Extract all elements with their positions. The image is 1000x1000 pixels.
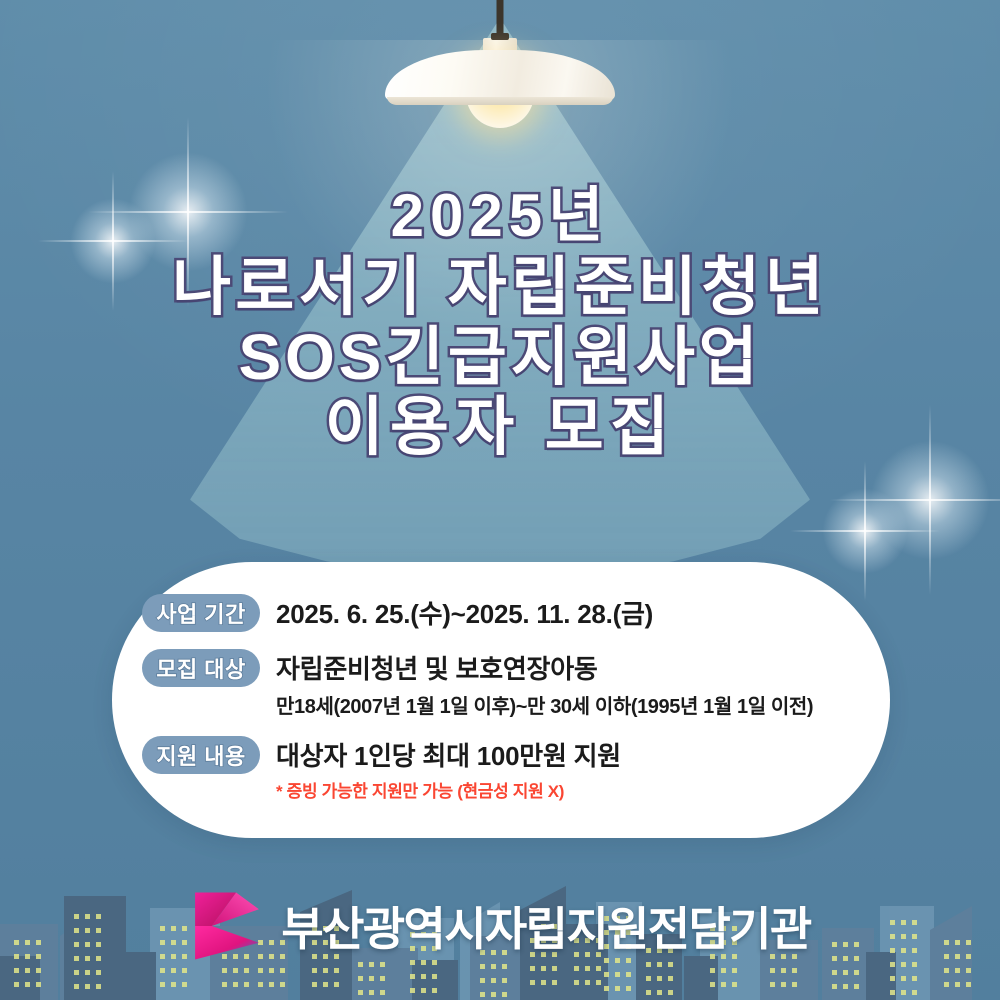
info-row: 모집 대상 자립준비청년 및 보호연장아동 만18세(2007년 1월 1일 이…	[142, 647, 872, 719]
info-row: 사업 기간 2025. 6. 25.(수)~2025. 11. 28.(금)	[142, 592, 872, 632]
info-label-target: 모집 대상	[142, 649, 260, 687]
title-line-3: SOS긴급지원사업	[0, 325, 1000, 389]
info-card: 사업 기간 2025. 6. 25.(수)~2025. 11. 28.(금) 모…	[112, 562, 890, 838]
info-row-list: 사업 기간 2025. 6. 25.(수)~2025. 11. 28.(금) 모…	[142, 592, 872, 802]
info-row-body: 대상자 1인당 최대 100만원 지원 * 증빙 가능한 지원만 가능 (현금성…	[276, 734, 621, 802]
title-line-1: 2025년	[0, 186, 1000, 246]
busan-independence-support-logo-icon	[189, 888, 265, 964]
organization-name: 부산광역시자립지원전담기관	[281, 893, 810, 959]
footer: 부산광역시자립지원전담기관	[0, 888, 1000, 964]
poster-root: 2025년 나로서기 자립준비청년 SOS긴급지원사업 이용자 모집 사업 기간…	[0, 0, 1000, 1000]
info-note-support: * 증빙 가능한 지원만 가능 (현금성 지원 X)	[276, 777, 621, 802]
poster-title: 2025년 나로서기 자립준비청년 SOS긴급지원사업 이용자 모집	[0, 186, 1000, 459]
info-value-target: 자립준비청년 및 보호연장아동	[276, 649, 813, 686]
pendant-lamp	[385, 0, 615, 150]
info-label-period: 사업 기간	[142, 594, 260, 632]
info-row: 지원 내용 대상자 1인당 최대 100만원 지원 * 증빙 가능한 지원만 가…	[142, 734, 872, 802]
title-line-2: 나로서기 자립준비청년	[0, 255, 1000, 319]
info-value-support: 대상자 1인당 최대 100만원 지원	[276, 736, 621, 773]
info-value-period: 2025. 6. 25.(수)~2025. 11. 28.(금)	[276, 594, 653, 631]
info-subvalue-target-age: 만18세(2007년 1월 1일 이후)~만 30세 이하(1995년 1월 1…	[276, 690, 813, 719]
info-row-body: 2025. 6. 25.(수)~2025. 11. 28.(금)	[276, 592, 653, 631]
title-line-4: 이용자 모집	[0, 395, 1000, 459]
info-label-support: 지원 내용	[142, 736, 260, 774]
lamp-shade-icon	[385, 50, 615, 102]
info-row-body: 자립준비청년 및 보호연장아동 만18세(2007년 1월 1일 이후)~만 3…	[276, 647, 813, 719]
